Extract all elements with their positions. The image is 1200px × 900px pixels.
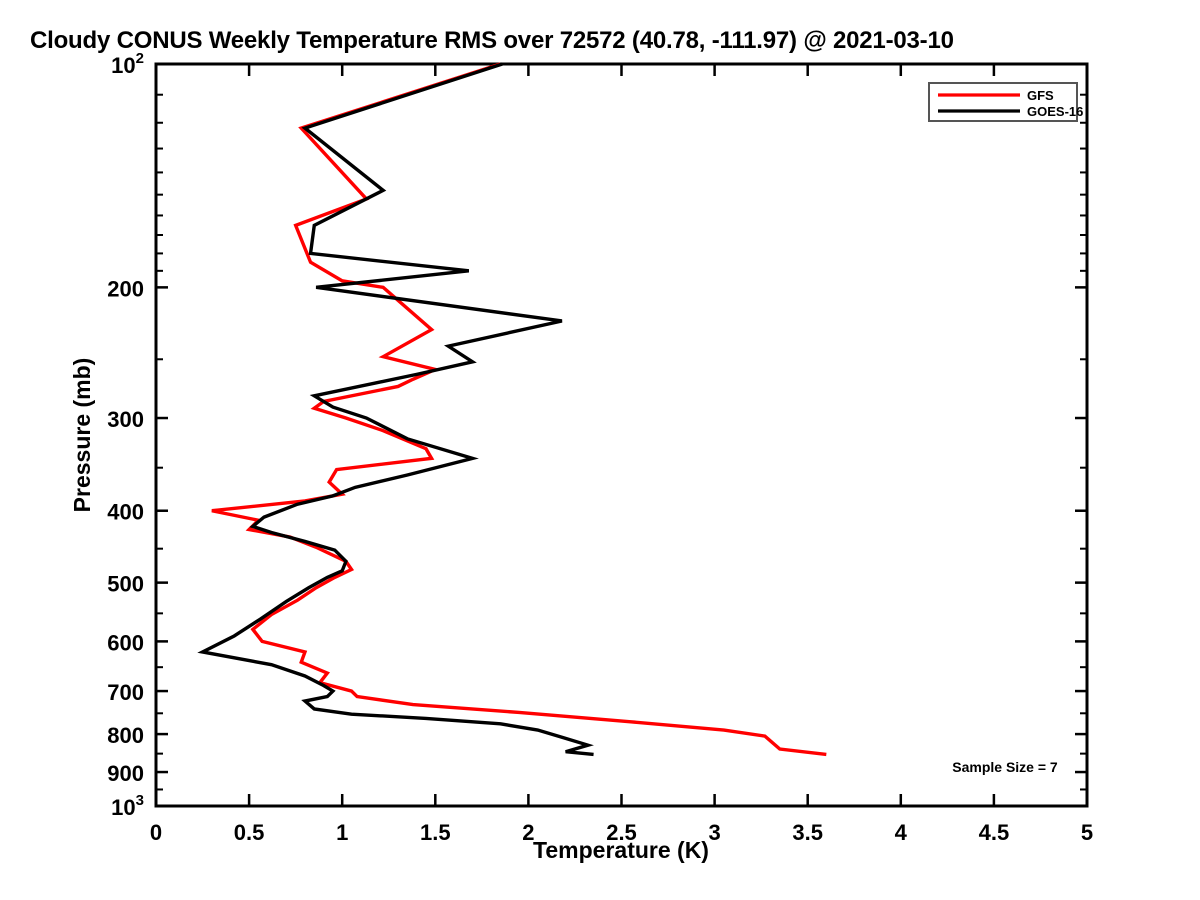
y-axis-label: Pressure (mb)	[69, 358, 95, 513]
y-tick-label: 500	[107, 572, 144, 597]
y-tick-label: 300	[107, 407, 144, 432]
y-tick-label: 900	[107, 761, 144, 786]
y-axis-ticks: 102200300400500600700800900103	[107, 50, 1087, 820]
x-tick-label: 3.5	[792, 820, 823, 845]
sample-size-annotation: Sample Size = 7	[952, 759, 1058, 775]
plot-area: 102200300400500600700800900103 00.511.52…	[0, 0, 1200, 900]
series-line-gfs	[212, 64, 826, 754]
y-tick-label: 200	[107, 276, 144, 301]
x-tick-label: 4.5	[979, 820, 1010, 845]
y-tick-label: 600	[107, 630, 144, 655]
chart-canvas: Cloudy CONUS Weekly Temperature RMS over…	[0, 0, 1200, 900]
y-tick-label: 800	[107, 723, 144, 748]
x-tick-label: 3	[708, 820, 720, 845]
y-tick-label: 700	[107, 680, 144, 705]
x-tick-label: 1.5	[420, 820, 451, 845]
axes-frame	[156, 64, 1087, 806]
y-tick-label: 102	[111, 50, 144, 78]
y-tick-label: 400	[107, 500, 144, 525]
y-tick-label: 103	[111, 792, 144, 820]
x-tick-label: 0.5	[234, 820, 265, 845]
x-tick-label: 0	[150, 820, 162, 845]
legend: GFS GOES-16	[929, 83, 1083, 121]
x-tick-label: 5	[1081, 820, 1093, 845]
x-axis-ticks: 00.511.522.533.544.55	[150, 64, 1093, 845]
data-series-group	[203, 64, 827, 754]
x-tick-label: 1	[336, 820, 348, 845]
series-line-goes-16	[203, 64, 594, 754]
legend-label-gfs: GFS	[1027, 88, 1054, 103]
legend-label-goes16: GOES-16	[1027, 104, 1083, 119]
x-tick-label: 4	[895, 820, 908, 845]
x-axis-label: Temperature (K)	[533, 837, 709, 863]
